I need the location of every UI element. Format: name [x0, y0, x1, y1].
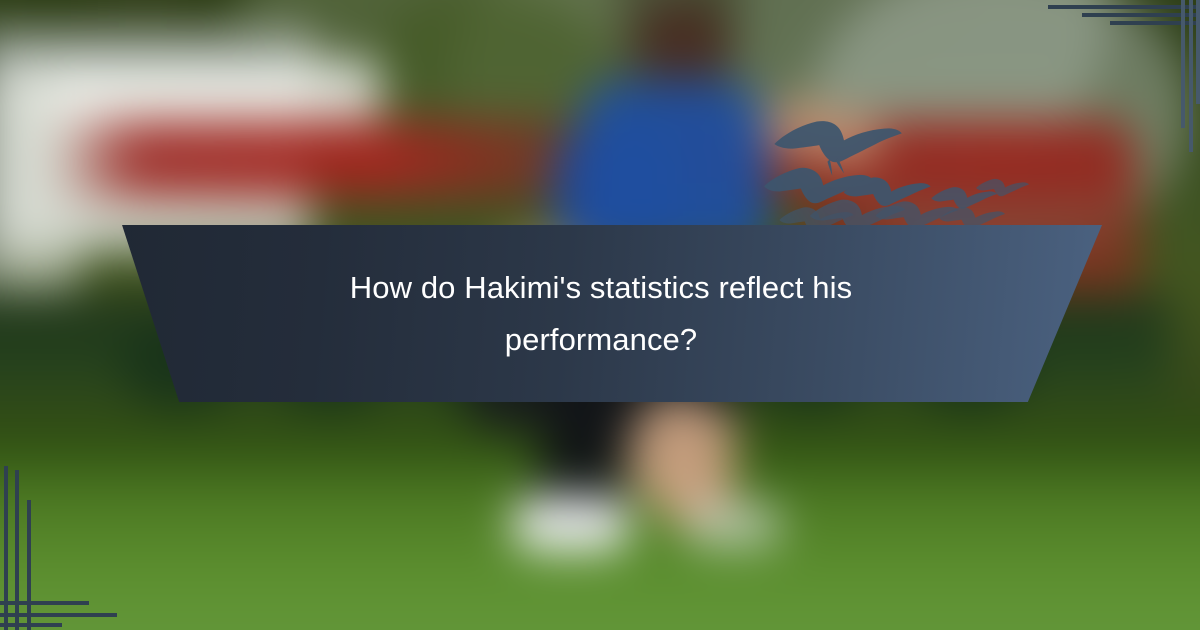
share-card: How do Hakimi's statistics reflect his p…	[0, 0, 1200, 630]
headline-text: How do Hakimi's statistics reflect his p…	[271, 262, 931, 366]
headline-banner-wrapper: How do Hakimi's statistics reflect his p…	[0, 0, 1200, 630]
headline-banner: How do Hakimi's statistics reflect his p…	[100, 225, 1102, 402]
